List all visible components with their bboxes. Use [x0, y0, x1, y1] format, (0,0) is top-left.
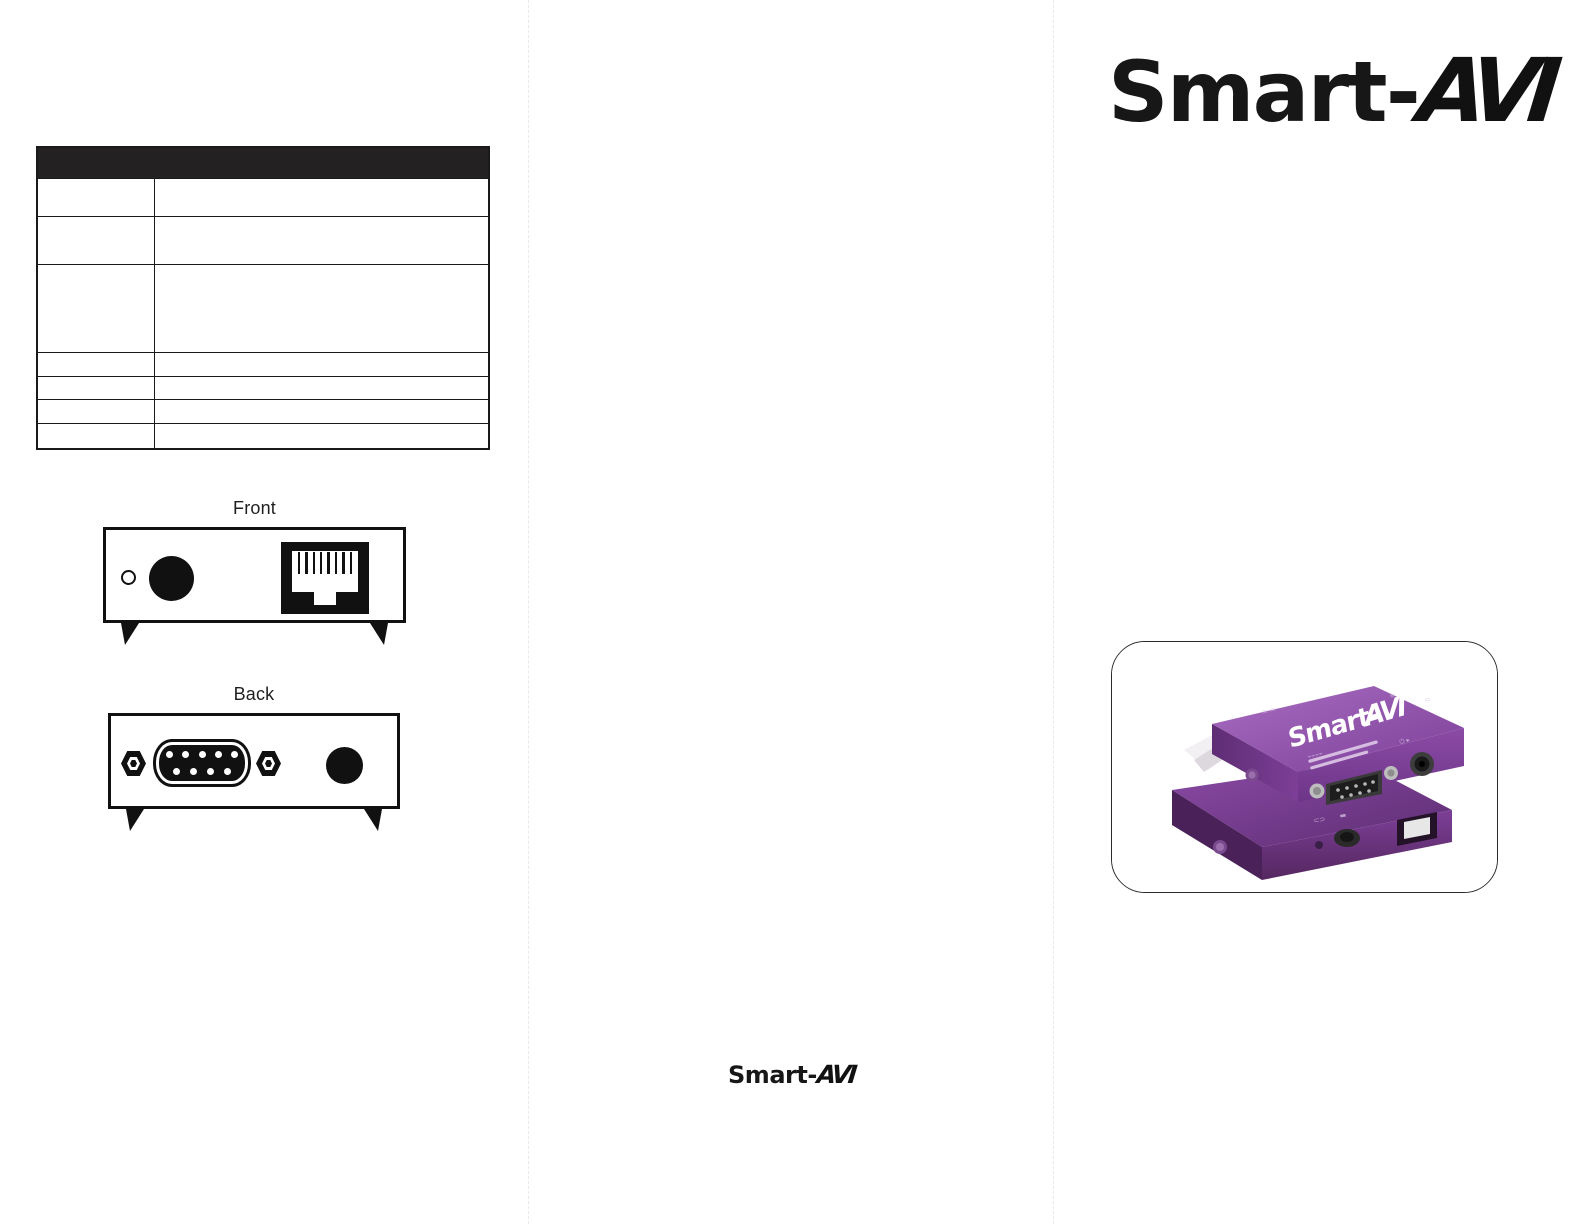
- spec-value: [154, 377, 489, 400]
- spec-label: [37, 400, 154, 424]
- product-photo: ⊂⊃ ▬ Smart- AVI: [1111, 641, 1498, 893]
- spec-value: [154, 179, 489, 217]
- hex-nut-right-icon: [256, 751, 281, 776]
- audio-jack-icon: [149, 556, 194, 601]
- spec-label: [37, 377, 154, 400]
- front-chassis: [103, 527, 406, 623]
- footer-logo-mark: AVI: [816, 1062, 856, 1087]
- spec-value: [154, 265, 489, 353]
- back-chassis: [108, 713, 400, 809]
- table-row: [37, 400, 489, 424]
- spec-label: [37, 265, 154, 353]
- front-panel-caption: Front: [103, 498, 406, 519]
- spec-label: [37, 424, 154, 449]
- spec-value: [154, 353, 489, 377]
- spec-label: [37, 179, 154, 217]
- power-jack-icon: [326, 747, 363, 784]
- specifications-table: [36, 146, 490, 450]
- spec-value: [154, 217, 489, 265]
- db9-pin-rows: [166, 751, 238, 775]
- front-panel-diagram: Front: [103, 498, 406, 623]
- rj45-port-icon: [281, 542, 369, 614]
- table-row: [37, 353, 489, 377]
- product-photo-illustration: ⊂⊃ ▬ Smart- AVI: [1112, 642, 1497, 892]
- rj45-latch-tab: [314, 587, 335, 606]
- brand-logo-mark: AVI: [1414, 47, 1555, 135]
- db9-pin-row-bottom: [166, 768, 238, 775]
- back-panel-diagram: Back: [108, 684, 400, 809]
- hex-nut-left-icon: [121, 751, 146, 776]
- brand-logo: Smart-AVI: [1108, 47, 1550, 135]
- chassis-foot-right: [370, 623, 388, 645]
- table-row: [37, 217, 489, 265]
- led-indicator-icon: [121, 570, 136, 585]
- chassis-foot-left: [126, 809, 144, 831]
- spec-value: [154, 400, 489, 424]
- back-panel-caption: Back: [108, 684, 400, 705]
- table-header-value: [154, 147, 489, 179]
- brochure-page: Smart-AVI: [0, 0, 1584, 1224]
- table-row: [37, 265, 489, 353]
- db9-serial-port-icon: [156, 742, 248, 784]
- chassis-foot-right: [364, 809, 382, 831]
- table-header-row: [37, 147, 489, 179]
- db9-pin-row-top: [166, 751, 238, 758]
- spec-label: [37, 353, 154, 377]
- footer-logo: Smart-AVI: [728, 1062, 854, 1087]
- spec-value: [154, 424, 489, 449]
- rj45-pin-contacts: [298, 552, 353, 574]
- chassis-foot-left: [121, 623, 139, 645]
- brand-logo-word: Smart-: [1108, 50, 1419, 134]
- svg-text:▬: ▬: [1339, 811, 1347, 820]
- table-header-label: [37, 147, 154, 179]
- table-row: [37, 179, 489, 217]
- fold-guide-left: [528, 0, 530, 1224]
- table-row: [37, 377, 489, 400]
- table-row: [37, 424, 489, 449]
- fold-guide-right: [1053, 0, 1055, 1224]
- back-chassis-wrap: [108, 713, 400, 809]
- footer-logo-word: Smart-: [728, 1063, 817, 1087]
- spec-label: [37, 217, 154, 265]
- front-chassis-wrap: [103, 527, 406, 623]
